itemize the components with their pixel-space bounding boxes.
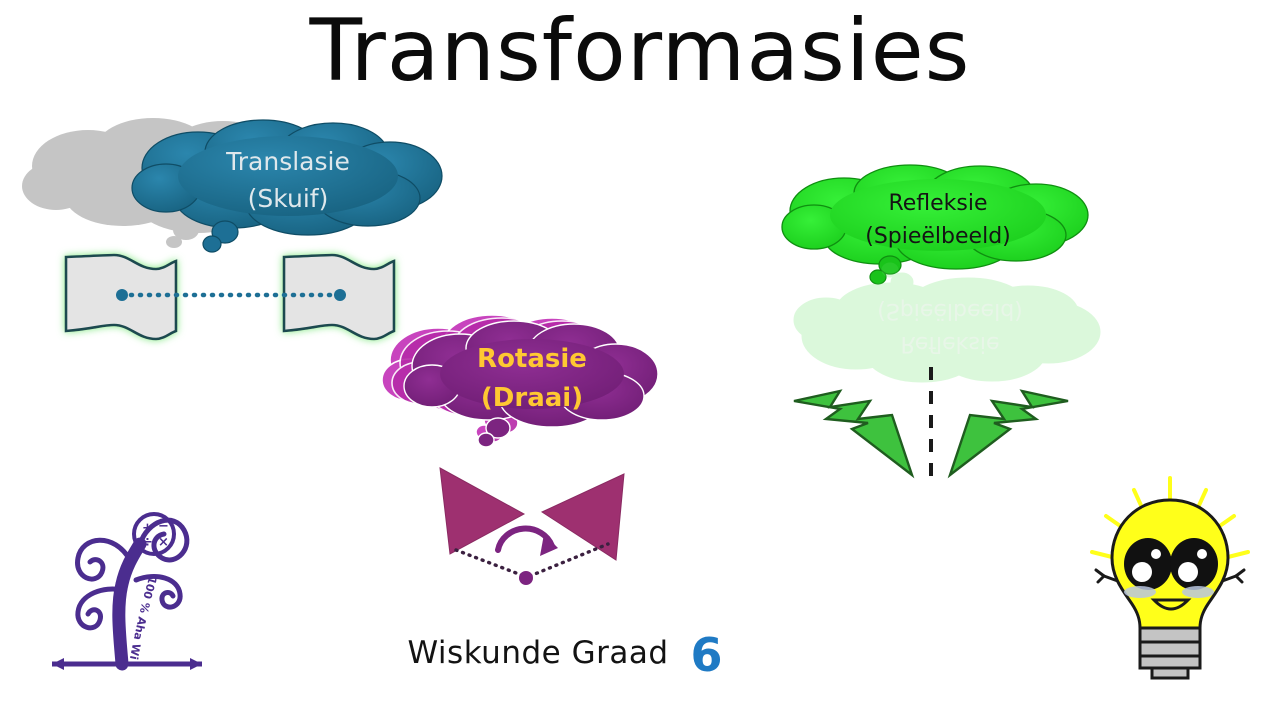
divide-symbol: ÷ <box>142 535 153 550</box>
translation-point-origin <box>116 289 128 301</box>
rotasie-cloud[interactable]: Rotasie (Draai) <box>402 318 662 440</box>
green-cloud-shape <box>778 165 1098 275</box>
slide-canvas: Transformasies Tran (S <box>0 0 1280 720</box>
lightbulb-mascot <box>1082 472 1262 682</box>
minus-symbol: − <box>158 519 169 534</box>
footer: Wiskunde Graad 6 <box>330 630 800 676</box>
translasie-cloud[interactable]: Translasie (Skuif) <box>128 120 448 240</box>
logo-curved-text-path: 100 % Aha Wiskunde <box>34 478 159 661</box>
lightning-bolt-image <box>950 391 1068 475</box>
translation-illustration <box>52 243 382 358</box>
translation-point-image <box>334 289 346 301</box>
page-title: Transformasies <box>0 6 1280 96</box>
lightning-bolt-original <box>794 391 912 475</box>
times-symbol: × <box>158 535 169 550</box>
footer-label: Wiskunde Graad <box>407 635 668 671</box>
aha-wiskunde-logo: + − ÷ × 100 % Aha Wiskunde <box>38 488 218 678</box>
refleksie-cloud[interactable]: Refleksie (Spieëlbeeld) <box>778 165 1098 275</box>
triangle-original <box>440 468 524 554</box>
reflection-illustration <box>786 365 1076 490</box>
purple-cloud-shape <box>402 318 662 440</box>
lightbulb-base <box>1140 628 1200 678</box>
plus-symbol: + <box>142 521 153 536</box>
rotation-center-point <box>519 571 533 585</box>
footer-grade: 6 <box>691 632 723 678</box>
rotation-illustration <box>412 462 652 587</box>
thought-bubble-tail-purple <box>478 418 510 447</box>
rotation-radius-original <box>456 550 524 576</box>
logo-curved-text: 100 % Aha Wiskunde <box>34 478 159 661</box>
blue-cloud-shape <box>128 120 448 240</box>
